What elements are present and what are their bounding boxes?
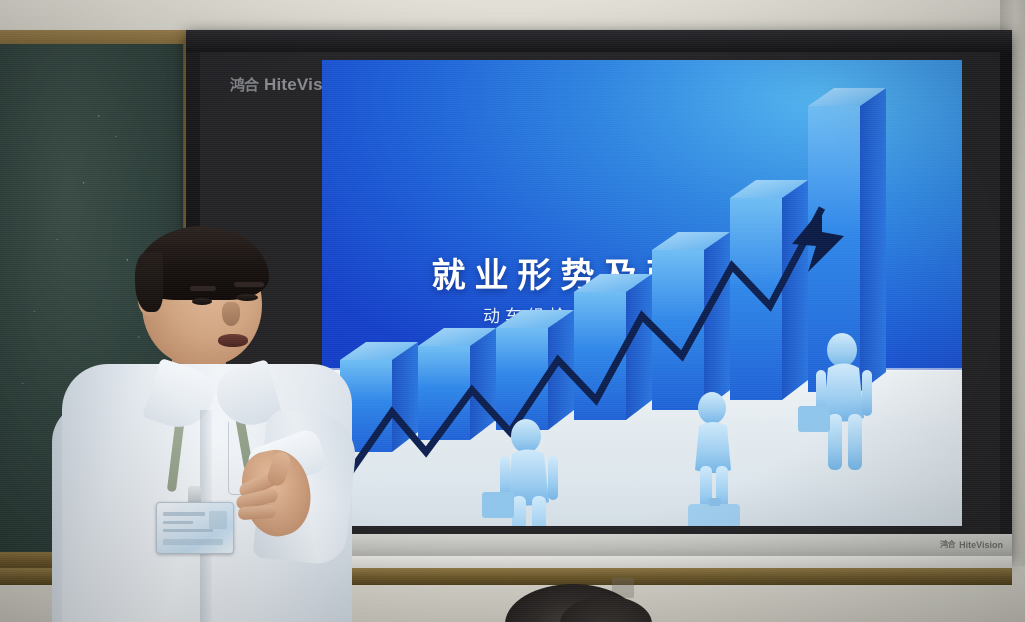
hitevision-logo-bottom: 鸿合 HiteVision: [940, 539, 1003, 550]
presenter-id-badge: [156, 502, 234, 554]
chart-bar-6: [730, 180, 808, 400]
presenter-eye-left: [192, 298, 212, 305]
chart-bar-4: [574, 274, 652, 420]
presenter-eye-right: [236, 294, 258, 301]
chart-bar-5: [652, 232, 730, 410]
panel-bezel-top: [186, 30, 1012, 52]
figure-businessman-2: [688, 392, 740, 526]
presenter-mouth: [218, 334, 248, 347]
presenter-finger-3: [238, 505, 277, 521]
presenter: [22, 224, 362, 622]
classroom-photo: 鸿合 HiteVision 就业形势及政策 动车组检修技术专业: [0, 0, 1025, 622]
hitevision-logo-cn-bottom: 鸿合: [940, 539, 955, 550]
presenter-eyebrow-right: [234, 282, 264, 287]
presentation-slide[interactable]: 就业形势及政策 动车组检修技术专业: [322, 60, 962, 526]
presenter-nose: [222, 302, 240, 326]
hitevision-logo-cn-top: 鸿合: [230, 74, 258, 95]
presenter-eyebrow-left: [190, 286, 216, 291]
figure-businessman-1: [482, 419, 558, 526]
bar-chart-graphic: [322, 60, 962, 526]
presenter-hair-side: [135, 252, 163, 312]
chart-bar-2: [418, 328, 496, 440]
hitevision-logo-text-bottom: HiteVision: [959, 540, 1003, 550]
chart-bar-3: [496, 310, 574, 430]
